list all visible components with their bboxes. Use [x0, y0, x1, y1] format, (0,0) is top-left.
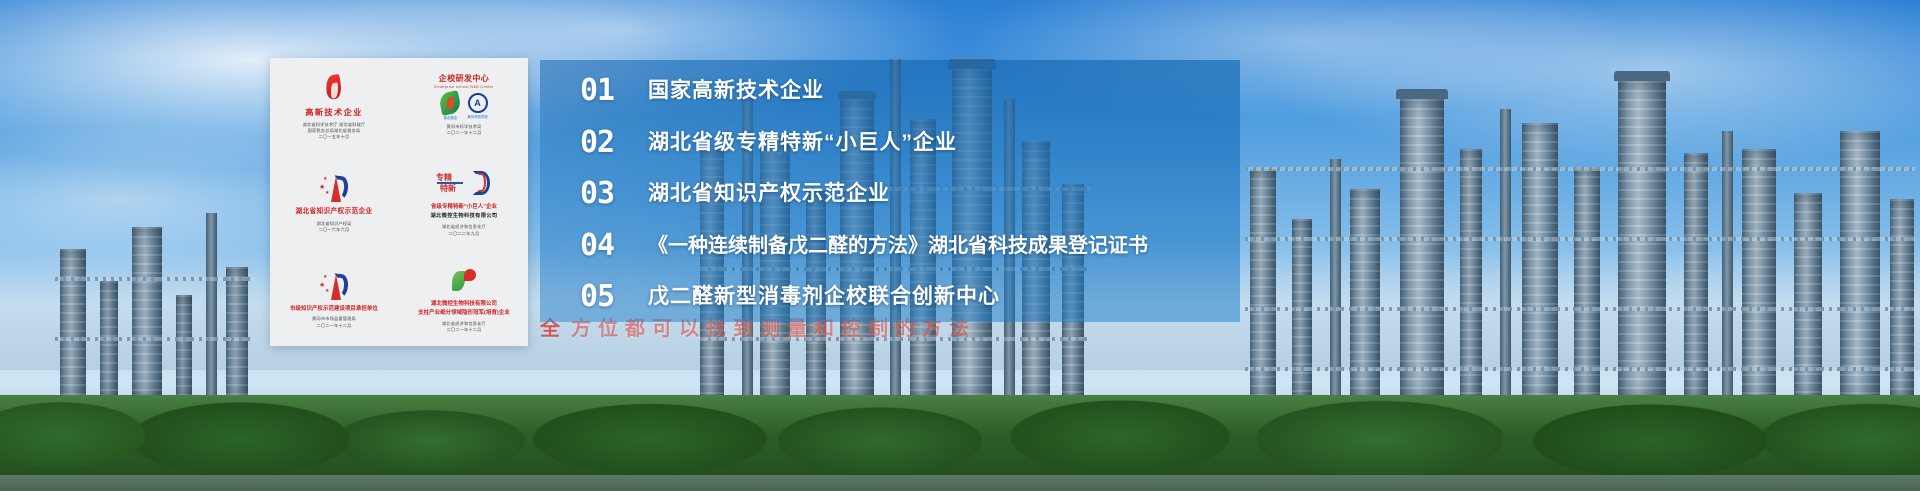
achievement-row[interactable]: 04 《一种连续制备戊二醛的方法》湖北省科技成果登记证书	[580, 231, 1210, 261]
certificate-issuer: 黄冈市市场监督管理局 二〇二一年十二月	[312, 316, 356, 328]
foreground-road	[0, 475, 1920, 491]
specialized-new-emblem-icon: 专精特新	[436, 167, 492, 201]
certificate-company: 湖北微控生物科技有限公司	[430, 213, 497, 220]
certificate-title: 湖北省知识产权示范企业	[296, 208, 373, 216]
certificate-card[interactable]: 专精特新 省级专精特新“小巨人”企业 湖北微控生物科技有限公司 湖北省经济和信息…	[400, 155, 528, 250]
achievement-text: 《一种连续制备戊二醛的方法》湖北省科技成果登记证书	[648, 234, 1148, 258]
certificate-title: 企校研发中心	[439, 74, 489, 84]
achievement-row[interactable]: 02 湖北省级专精特新“小巨人”企业	[580, 128, 1210, 158]
ip-sail-emblem-icon: ★ ★ ★	[319, 269, 349, 303]
certificate-title: 高新技术企业	[305, 108, 363, 118]
ip-sail-emblem-icon: ★ ★ ★	[319, 171, 349, 205]
achievement-number: 03	[580, 179, 626, 209]
university-seal-icon	[468, 93, 488, 113]
hero-banner: 全方位都可以找到测量和控制的方法 高新技术企业 湖北省科学技术厅 湖北省财政厅 …	[0, 0, 1920, 491]
achievement-number: 01	[580, 76, 626, 106]
achievement-text: 湖北省级专精特新“小巨人”企业	[648, 130, 957, 155]
achievement-text: 湖北省知识产权示范企业	[648, 181, 890, 206]
certificate-issuer: 湖北省科学技术厅 湖北省财政厅 国家税务总局湖北省税务局 二〇一五年十月	[303, 122, 366, 140]
certificate-issuer: 湖北省经济和信息化厅 二〇二一年十二月	[442, 321, 486, 333]
achievement-text: 戊二醛新型消毒剂企校联合创新中心	[648, 284, 1000, 309]
certificate-issuer: 黄冈市科学技术局 二〇二一年十二月	[446, 124, 481, 136]
certificate-title-en: Enterprise school R&D Center	[434, 85, 493, 89]
flame-emblem-icon	[323, 71, 345, 105]
leaf-logo-icon	[440, 92, 460, 114]
achievements-panel: 01 国家高新技术企业 02 湖北省级专精特新“小巨人”企业 03 湖北省知识产…	[540, 60, 1240, 322]
achievement-row[interactable]: 01 国家高新技术企业	[580, 76, 1210, 106]
certificate-issuer: 湖北省经济和信息化厅 二〇二二年九月	[442, 224, 486, 236]
certificate-card[interactable]: ★ ★ ★ 市级知识产权示范建设项目承担单位 黄冈市市场监督管理局 二〇二一年十…	[270, 251, 398, 346]
certificate-title: 市级知识产权示范建设项目承担单位	[290, 306, 378, 313]
logo-caption-left: 湖北微控	[444, 115, 458, 120]
certificate-card[interactable]: 湖北微控生物科技有限公司 支柱产业细分领域隐形冠军(培育)企业 湖北省经济和信息…	[400, 251, 528, 346]
certificate-grid: 高新技术企业 湖北省科学技术厅 湖北省财政厅 国家税务总局湖北省税务局 二〇一五…	[270, 58, 528, 346]
achievement-number: 02	[580, 128, 626, 158]
achievement-number: 04	[580, 231, 626, 261]
logo-caption-right: 黄冈师范学院	[467, 114, 487, 119]
certificate-subtitle: 支柱产业细分领域隐形冠军(培育)企业	[418, 310, 510, 317]
certificate-title: 省级专精特新“小巨人”企业	[431, 204, 497, 211]
achievement-text: 国家高新技术企业	[648, 78, 824, 103]
weikong-brand-icon	[452, 264, 476, 298]
certificate-card[interactable]: ★ ★ ★ 湖北省知识产权示范企业 湖北省知识产权局 二〇一六年六月	[270, 155, 398, 250]
certificate-title: 湖北微控生物科技有限公司	[431, 301, 497, 308]
certificate-card[interactable]: 企校研发中心 Enterprise school R&D Center 湖北微控…	[400, 58, 528, 153]
certificate-issuer: 湖北省知识产权局 二〇一六年六月	[316, 221, 351, 233]
partner-logos: 湖北微控 黄冈师范学院	[440, 92, 487, 120]
certificate-card[interactable]: 高新技术企业 湖北省科学技术厅 湖北省财政厅 国家税务总局湖北省税务局 二〇一五…	[270, 58, 398, 153]
achievement-number: 05	[580, 282, 626, 312]
achievement-row[interactable]: 03 湖北省知识产权示范企业	[580, 179, 1210, 209]
achievement-row[interactable]: 05 戊二醛新型消毒剂企校联合创新中心	[580, 282, 1210, 312]
